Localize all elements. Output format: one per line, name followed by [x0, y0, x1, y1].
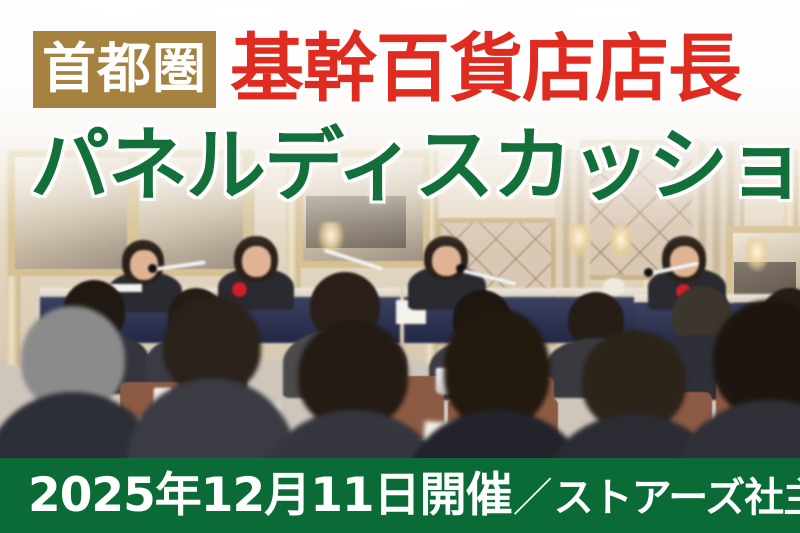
wall-sconce-icon [566, 224, 592, 258]
event-info-text: 2025年12月11日開催／ストアーズ社主催 [28, 472, 800, 519]
wall-sconce-icon [744, 238, 770, 272]
headline-row: 首都圏 基幹百貨店店長 [0, 26, 800, 112]
event-host: ストアーズ社主催 [554, 475, 800, 521]
event-info-bar: 2025年12月11日開催／ストアーズ社主催 [0, 458, 800, 533]
ceiling-light-icon [555, 2, 655, 22]
separator-slash: ／ [512, 475, 554, 521]
region-badge: 首都圏 [33, 31, 216, 108]
event-date: 2025年12月11日開催 [28, 468, 512, 523]
ceiling-light-icon [200, 2, 290, 22]
event-banner: 首都圏 基幹百貨店店長 パネルディスカッション 2025年12月11日開催／スト… [0, 0, 800, 533]
page-title-primary: 基幹百貨店店長 [230, 32, 741, 106]
wall-sconce-icon [608, 226, 634, 260]
page-title-secondary: パネルディスカッション [30, 126, 800, 206]
